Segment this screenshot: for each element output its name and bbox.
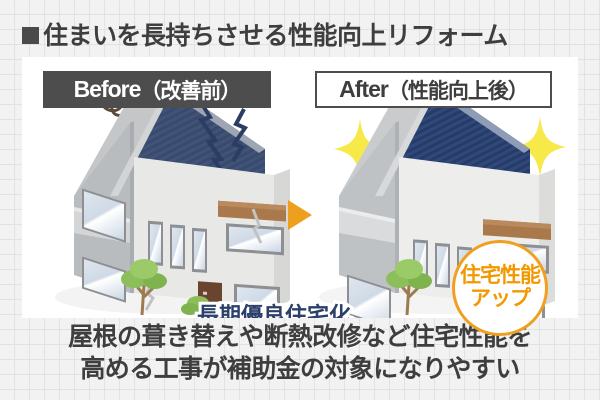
badge-line2: アップ — [470, 288, 530, 311]
page-title-text: 住まいを長持ちさせる性能向上リフォーム — [43, 16, 508, 52]
label-after-en: After — [339, 76, 388, 103]
before-house-group — [55, 83, 290, 318]
label-after-jp: （性能向上後） — [388, 75, 528, 105]
label-before-en: Before — [74, 76, 141, 103]
reform-label-line1-wrap: 長期優良住宅化 長期優良住宅化 — [197, 304, 351, 318]
label-after: After（性能向上後） — [315, 71, 552, 108]
label-before-jp: （改善前） — [140, 75, 240, 105]
transition-arrow-icon — [288, 200, 312, 230]
label-before: Before（改善前） — [43, 71, 271, 108]
performance-up-badge: 住宅性能 アップ — [452, 240, 548, 336]
reform-label: 長期優良住宅化 長期優良住宅化 リフォーム リフォーム — [197, 304, 351, 318]
caption-line2: 高める工事が補助金の対象になりやすい — [0, 354, 600, 386]
badge-line1: 住宅性能 — [460, 265, 540, 288]
reform-label-line1: 長期優良住宅化 — [197, 303, 351, 318]
square-bullet-icon — [22, 27, 39, 44]
page-title: 住まいを長持ちさせる性能向上リフォーム — [22, 16, 508, 52]
